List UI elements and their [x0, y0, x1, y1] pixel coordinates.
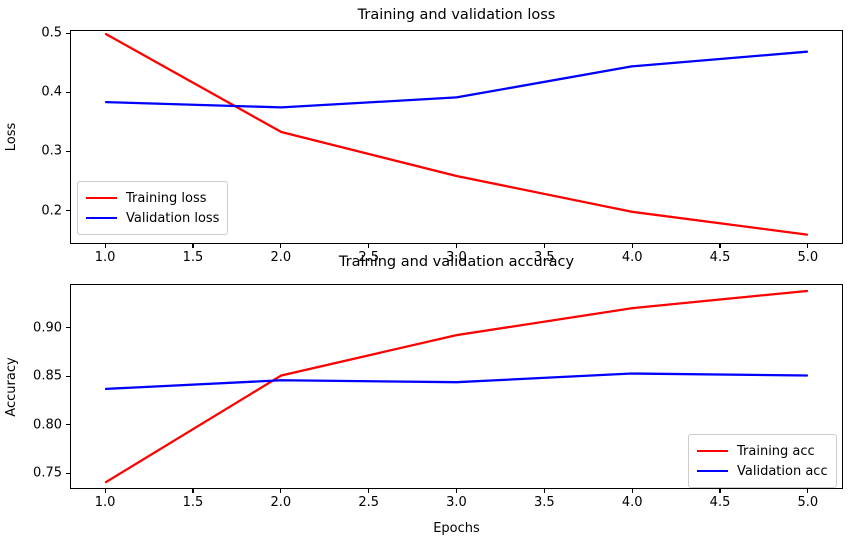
x-tick-mark	[105, 489, 106, 493]
legend-label: Validation loss	[126, 212, 219, 225]
y-tick-mark	[66, 473, 70, 474]
series-line-validation-acc	[106, 374, 807, 389]
y-tick-label: 0.4	[4, 85, 62, 100]
x-tick-mark	[719, 489, 720, 493]
x-tick-mark	[632, 489, 633, 493]
legend-item[interactable]: Validation loss	[86, 208, 219, 228]
x-tick-label: 1.0	[95, 495, 116, 510]
y-tick-label: 0.85	[4, 369, 62, 384]
loss-chart-title: Training and validation loss	[70, 8, 843, 23]
y-tick-mark	[66, 376, 70, 377]
y-tick-mark	[66, 151, 70, 152]
x-tick-mark	[280, 244, 281, 248]
x-tick-mark	[368, 489, 369, 493]
x-tick-label: 1.0	[95, 250, 116, 265]
x-tick-mark	[807, 244, 808, 248]
y-tick-label: 0.80	[4, 417, 62, 432]
y-tick-label: 0.2	[4, 203, 62, 218]
x-tick-mark	[192, 244, 193, 248]
y-tick-label: 0.75	[4, 466, 62, 481]
loss-chart-legend[interactable]: Training lossValidation loss	[77, 181, 228, 235]
x-tick-label: 4.5	[710, 495, 731, 510]
x-tick-mark	[544, 244, 545, 248]
x-tick-mark	[456, 489, 457, 493]
y-tick-mark	[66, 424, 70, 425]
legend-label: Training loss	[126, 192, 207, 205]
x-tick-mark	[368, 244, 369, 248]
series-line-validation-loss	[106, 52, 807, 108]
legend-item[interactable]: Training acc	[697, 441, 828, 461]
x-tick-label: 3.0	[446, 495, 467, 510]
x-tick-mark	[105, 244, 106, 248]
x-tick-label: 3.5	[534, 495, 555, 510]
x-tick-label: 2.5	[358, 495, 379, 510]
x-tick-mark	[456, 244, 457, 248]
x-tick-mark	[632, 244, 633, 248]
x-tick-label: 4.0	[622, 495, 643, 510]
legend-label: Training acc	[737, 445, 815, 458]
x-tick-label: 1.5	[183, 250, 204, 265]
x-tick-mark	[719, 244, 720, 248]
y-tick-mark	[66, 327, 70, 328]
x-tick-label: 4.0	[622, 250, 643, 265]
legend-color-swatch	[697, 470, 728, 472]
y-tick-label: 0.5	[4, 26, 62, 41]
y-tick-label: 0.90	[4, 320, 62, 335]
y-tick-label: 0.3	[4, 144, 62, 159]
legend-color-swatch	[86, 217, 117, 219]
x-tick-mark	[544, 489, 545, 493]
x-tick-label: 5.0	[798, 250, 819, 265]
x-tick-mark	[192, 489, 193, 493]
matplotlib-figure: Training and validation loss Loss Traini…	[0, 0, 855, 547]
x-tick-mark	[807, 489, 808, 493]
y-tick-mark	[66, 210, 70, 211]
x-tick-mark	[280, 489, 281, 493]
x-tick-label: 5.0	[798, 495, 819, 510]
legend-item[interactable]: Validation acc	[697, 461, 828, 481]
y-tick-mark	[66, 33, 70, 34]
x-tick-label: 2.5	[358, 250, 379, 265]
accuracy-chart-legend[interactable]: Training accValidation acc	[688, 434, 837, 488]
x-tick-label: 4.5	[710, 250, 731, 265]
legend-color-swatch	[86, 197, 117, 199]
legend-item[interactable]: Training loss	[86, 188, 219, 208]
x-tick-label: 3.5	[534, 250, 555, 265]
y-tick-mark	[66, 92, 70, 93]
x-tick-label: 2.0	[270, 495, 291, 510]
x-tick-label: 3.0	[446, 250, 467, 265]
legend-color-swatch	[697, 450, 728, 452]
accuracy-chart-xlabel: Epochs	[70, 521, 843, 536]
x-tick-label: 1.5	[183, 495, 204, 510]
x-tick-label: 2.0	[270, 250, 291, 265]
legend-label: Validation acc	[737, 465, 828, 478]
